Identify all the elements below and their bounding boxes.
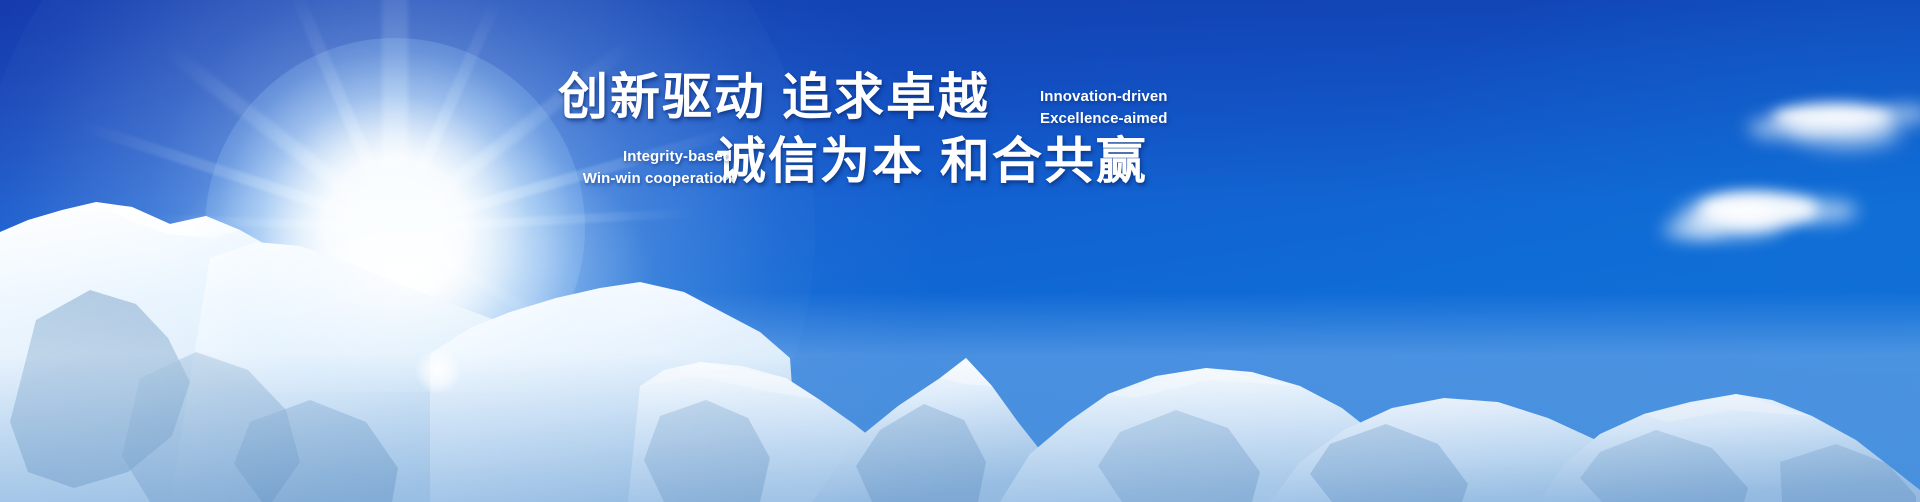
banner-copy: 创新驱动 追求卓越 诚信为本 和合共赢 Innovation-driven Ex… (0, 0, 1920, 502)
headline-chinese-line-2: 诚信为本 和合共赢 (716, 136, 1148, 186)
headline-chinese-line-1: 创新驱动 追求卓越 (558, 72, 990, 122)
tagline-right-line-2: Excellence-aimed (1040, 108, 1168, 130)
tagline-left-line-2: Win-win cooperation (532, 168, 732, 190)
tagline-right-line-1: Innovation-driven (1040, 86, 1168, 108)
hero-banner: 创新驱动 追求卓越 诚信为本 和合共赢 Innovation-driven Ex… (0, 0, 1920, 502)
tagline-left-line-1: Integrity-based (532, 146, 732, 168)
tagline-right: Innovation-driven Excellence-aimed (1040, 86, 1168, 130)
tagline-left: Integrity-based Win-win cooperation (532, 146, 732, 190)
